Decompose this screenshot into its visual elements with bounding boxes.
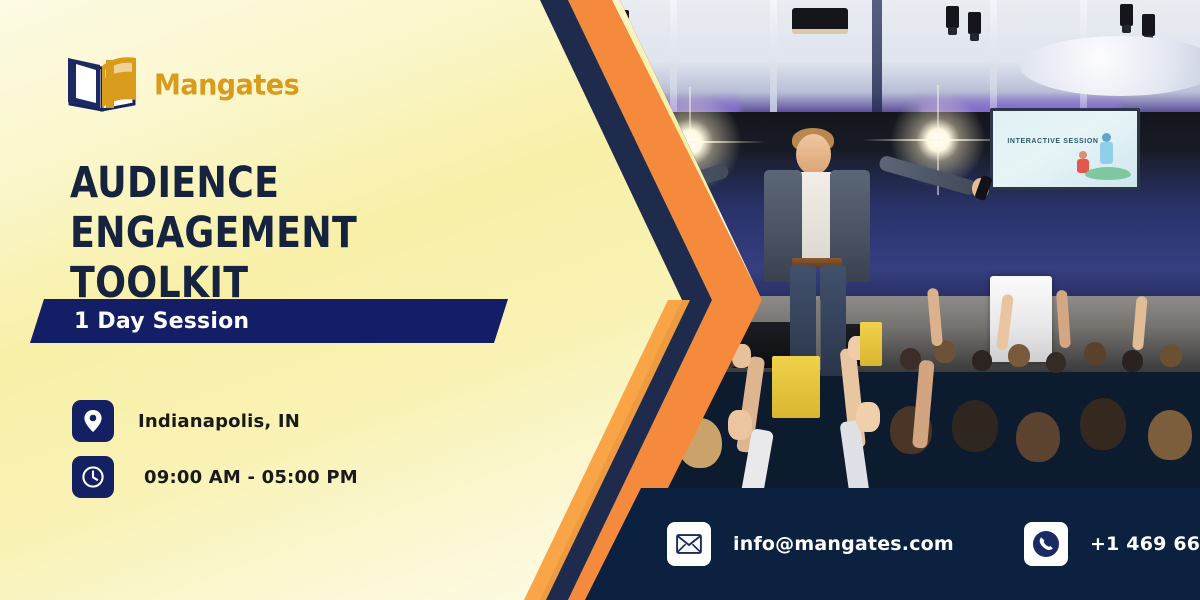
page-title: Audience Engagement Toolkit <box>70 158 559 308</box>
email-label: info@mangates.com <box>733 533 954 555</box>
phone-icon <box>1024 522 1068 566</box>
envelope-icon <box>667 522 711 566</box>
voting-card <box>860 322 882 366</box>
clock-icon <box>72 456 114 498</box>
phone-label: +1 469 666 9332 <box>1090 533 1200 555</box>
screen-text: INTERACTIVE SESSION <box>1007 138 1098 145</box>
session-badge-label: 1 Day Session <box>74 309 249 334</box>
title-line-1: Audience Engagement <box>70 158 559 258</box>
phone-item[interactable]: +1 469 666 9332 <box>1024 522 1200 566</box>
time-label: 09:00 AM - 05:00 PM <box>144 467 358 488</box>
logo[interactable]: Mangates <box>62 52 282 114</box>
contact-footer: info@mangates.com +1 469 666 9332 <box>585 488 1200 600</box>
event-banner: INTERACTIVE SESSION <box>0 0 1200 600</box>
projector-icon <box>792 8 848 34</box>
projection-screen: INTERACTIVE SESSION <box>990 108 1140 190</box>
session-badge: 1 Day Session <box>30 299 508 343</box>
time-row: 09:00 AM - 05:00 PM <box>72 456 358 498</box>
map-pin-icon <box>72 400 114 442</box>
logo-text: Mangates <box>154 69 299 102</box>
voting-card <box>772 356 820 418</box>
open-book-icon <box>62 52 148 112</box>
location-row: Indianapolis, IN <box>72 400 300 442</box>
email-item[interactable]: info@mangates.com <box>667 522 954 566</box>
location-label: Indianapolis, IN <box>138 411 300 432</box>
